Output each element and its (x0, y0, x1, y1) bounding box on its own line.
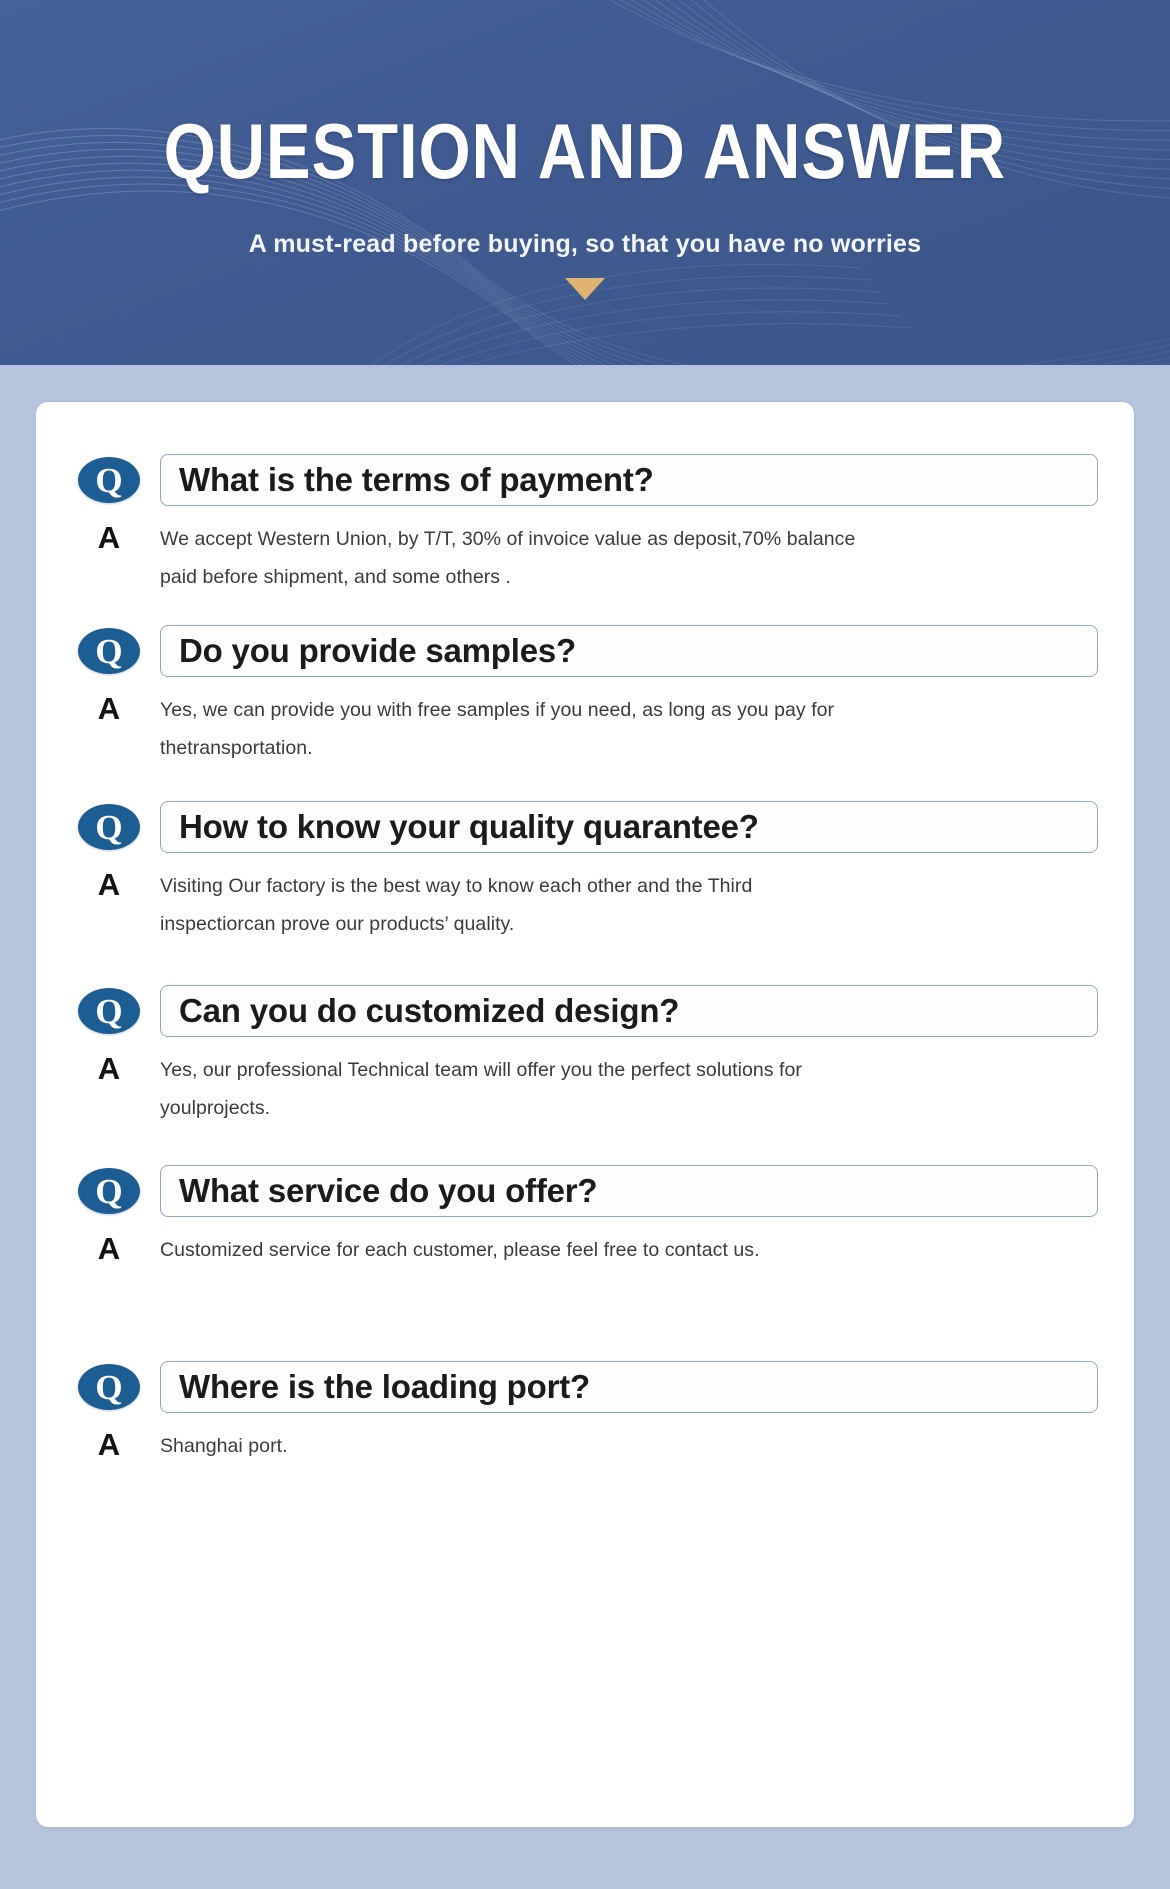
question-marker-icon: Q (78, 988, 140, 1034)
answer-line: We accept Western Union, by T/T, 30% of … (160, 520, 1098, 558)
faq-item: Q What is the terms of payment? A We acc… (72, 454, 1098, 596)
answer-marker-icon: A (78, 691, 140, 727)
question-marker-icon: Q (78, 1168, 140, 1214)
question-row: Q Where is the loading port? (72, 1361, 1098, 1413)
answer-line: inspectiorcan prove our products’ qualit… (160, 905, 1098, 943)
answer-row: A Visiting Our factory is the best way t… (72, 867, 1098, 943)
question-text: Where is the loading port? (179, 1367, 590, 1407)
answer-marker-icon: A (78, 1231, 140, 1267)
answer-text: Visiting Our factory is the best way to … (160, 867, 1098, 943)
answer-marker-icon: A (78, 1427, 140, 1463)
question-marker-icon: Q (78, 1364, 140, 1410)
question-box[interactable]: Do you provide samples? (160, 625, 1098, 677)
question-box[interactable]: How to know your quality quarantee? (160, 801, 1098, 853)
answer-text: Customized service for each customer, pl… (160, 1231, 1098, 1269)
answer-line: youlprojects. (160, 1089, 1098, 1127)
answer-line: Shanghai port. (160, 1427, 1098, 1465)
answer-text: Shanghai port. (160, 1427, 1098, 1465)
question-row: Q What is the terms of payment? (72, 454, 1098, 506)
faq-item: Q Where is the loading port? A Shanghai … (72, 1361, 1098, 1465)
question-box[interactable]: What is the terms of payment? (160, 454, 1098, 506)
question-box[interactable]: Where is the loading port? (160, 1361, 1098, 1413)
question-text: Can you do customized design? (179, 991, 679, 1031)
question-box[interactable]: What service do you offer? (160, 1165, 1098, 1217)
faq-item: Q Do you provide samples? A Yes, we can … (72, 625, 1098, 767)
answer-row: A Shanghai port. (72, 1427, 1098, 1465)
answer-line: paid before shipment, and some others . (160, 558, 1098, 596)
answer-row: A We accept Western Union, by T/T, 30% o… (72, 520, 1098, 596)
question-row: Q Can you do customized design? (72, 985, 1098, 1037)
question-text: Do you provide samples? (179, 631, 576, 671)
answer-text: Yes, we can provide you with free sample… (160, 691, 1098, 767)
answer-line: Visiting Our factory is the best way to … (160, 867, 1098, 905)
page-header: QUESTION AND ANSWER A must-read before b… (0, 0, 1170, 365)
answer-text: Yes, our professional Technical team wil… (160, 1051, 1098, 1127)
question-text: What is the terms of payment? (179, 460, 654, 500)
page-body: Q What is the terms of payment? A We acc… (0, 365, 1170, 1889)
answer-row: A Yes, our professional Technical team w… (72, 1051, 1098, 1127)
answer-marker-icon: A (78, 867, 140, 903)
page-subtitle: A must-read before buying, so that you h… (249, 230, 921, 259)
question-text: What service do you offer? (179, 1171, 597, 1211)
answer-marker-icon: A (78, 1051, 140, 1087)
question-row: Q Do you provide samples? (72, 625, 1098, 677)
answer-line: thetransportation. (160, 729, 1098, 767)
faq-card: Q What is the terms of payment? A We acc… (36, 402, 1134, 1827)
page-title: QUESTION AND ANSWER (164, 112, 1006, 190)
question-marker-icon: Q (78, 457, 140, 503)
question-row: Q What service do you offer? (72, 1165, 1098, 1217)
question-box[interactable]: Can you do customized design? (160, 985, 1098, 1037)
triangle-down-icon (565, 278, 605, 300)
question-text: How to know your quality quarantee? (179, 807, 759, 847)
answer-row: A Yes, we can provide you with free samp… (72, 691, 1098, 767)
question-marker-icon: Q (78, 628, 140, 674)
faq-item: Q How to know your quality quarantee? A … (72, 801, 1098, 943)
answer-line: Yes, our professional Technical team wil… (160, 1051, 1098, 1089)
question-marker-icon: Q (78, 804, 140, 850)
answer-line: Yes, we can provide you with free sample… (160, 691, 1098, 729)
question-row: Q How to know your quality quarantee? (72, 801, 1098, 853)
answer-line: Customized service for each customer, pl… (160, 1231, 1098, 1269)
answer-marker-icon: A (78, 520, 140, 556)
answer-text: We accept Western Union, by T/T, 30% of … (160, 520, 1098, 596)
answer-row: A Customized service for each customer, … (72, 1231, 1098, 1269)
faq-item: Q What service do you offer? A Customize… (72, 1165, 1098, 1269)
faq-item: Q Can you do customized design? A Yes, o… (72, 985, 1098, 1127)
